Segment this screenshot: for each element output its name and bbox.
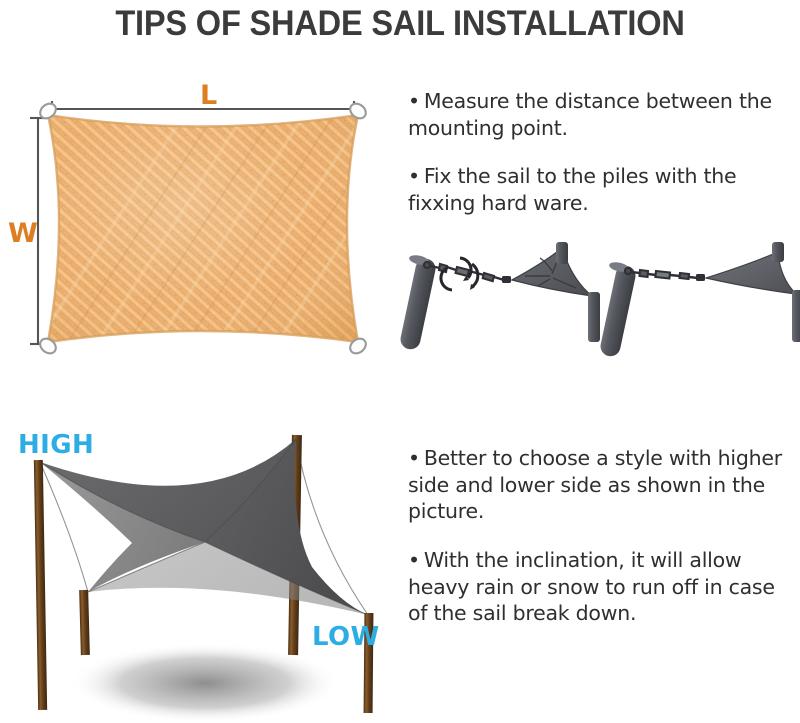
ground-post-left [399,254,438,351]
bullet-marker-icon: • [408,164,420,188]
low-side-label: LOW [312,622,380,652]
hardware-turnbuckle-loose [399,242,600,351]
post-front-left [34,460,47,710]
hypar-sail-diagram [0,415,405,723]
sail-corner-fitting [502,276,511,283]
mounting-post-right-front [792,290,800,342]
length-label: L [200,80,217,111]
tips-top-list: •Measure the distance between the mounti… [408,88,800,228]
bullet-marker-icon: • [408,89,420,113]
hypar-svg [0,415,405,723]
tip-bullet-3: •Better to choose a style with higher si… [408,445,800,525]
hardware-turnbuckle-tight [599,242,800,358]
bullet-marker-icon: • [408,446,420,470]
tip-bullet-2: •Fix the sail to the piles with the fixx… [408,163,800,216]
tip-bullet-1-text: Measure the distance between the mountin… [408,89,772,140]
mounting-post-right-rear [772,242,784,262]
hypar-sail-fabric [40,439,368,615]
tip-bullet-4: •With the inclination, it will allow hea… [408,547,800,627]
snap-hook-and-turnbuckle-right [625,268,698,279]
high-side-label: HIGH [18,430,94,460]
tip-bullet-4-text: With the inclination, it will allow heav… [408,548,775,625]
hardware-svg [400,240,800,375]
tip-bullet-1: •Measure the distance between the mounti… [408,88,800,141]
width-label: W [8,218,38,249]
tips-bottom-list: •Better to choose a style with higher si… [408,445,800,660]
mounting-post-left-front [588,292,600,342]
post-rear-left [79,590,90,655]
sail-dimensions-svg [0,70,405,375]
sail-dimensions-diagram [0,70,405,375]
ground-post-right [599,261,638,358]
ground-shadow [70,643,340,723]
poster-root: TIPS OF SHADE SAIL INSTALLATION [0,0,800,723]
snap-hook-and-turnbuckle-left [424,262,504,281]
tip-bullet-3-text: Better to choose a style with higher sid… [408,446,782,523]
bullet-marker-icon: • [408,548,420,572]
triangular-sail-left [512,248,592,296]
hardware-illustrations [400,240,800,375]
page-title: TIPS OF SHADE SAIL INSTALLATION [28,4,772,44]
shade-sail-fabric [20,90,440,370]
mounting-post-left-rear [556,242,568,264]
sail-corner-fitting [696,274,705,281]
tip-bullet-2-text: Fix the sail to the piles with the fixxi… [408,164,736,215]
